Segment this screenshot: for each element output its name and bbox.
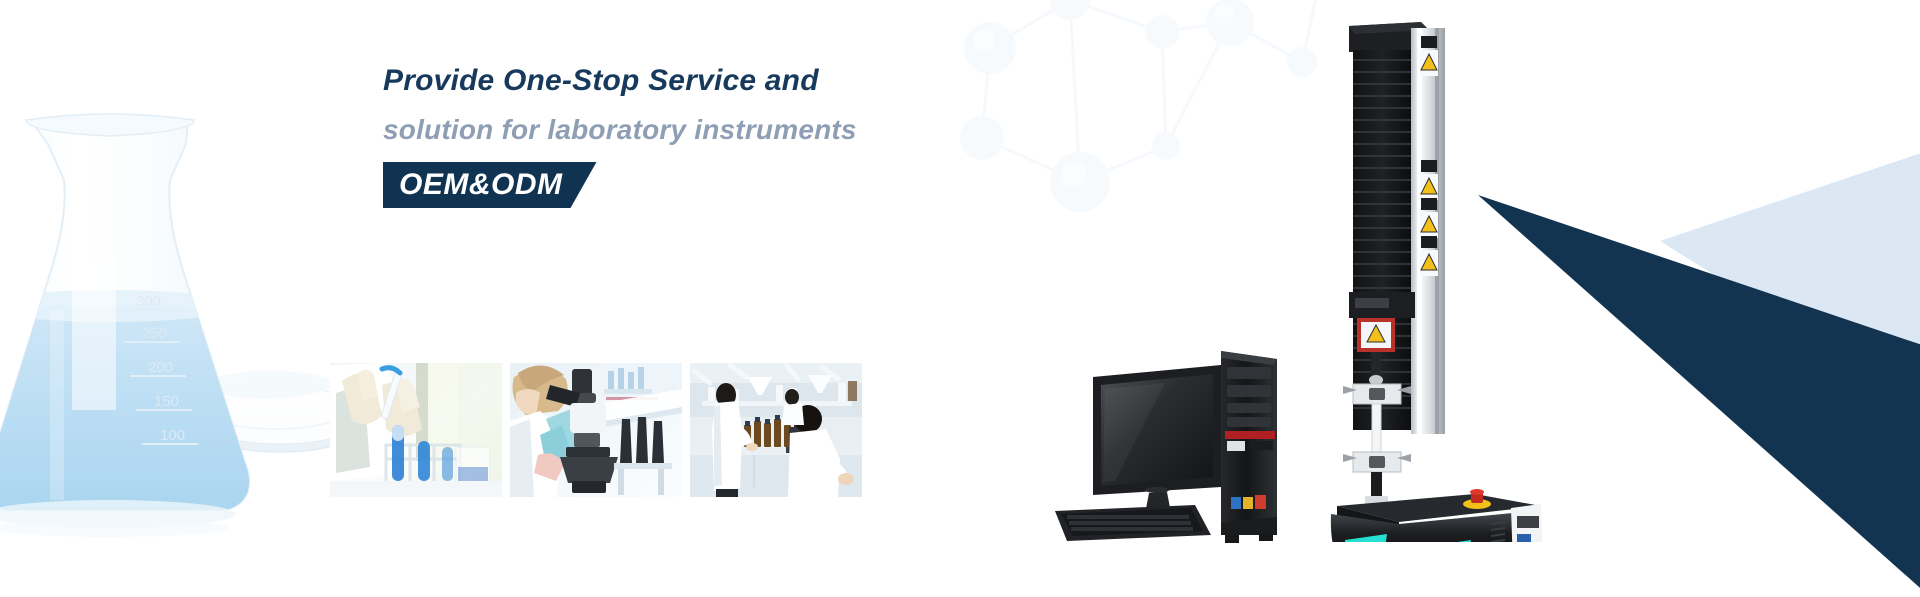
photo-pipetting xyxy=(330,363,502,497)
svg-text:100: 100 xyxy=(160,427,185,444)
desktop-computer xyxy=(1045,345,1280,550)
headline-line-1: Provide One-Stop Service and xyxy=(383,58,1083,104)
promo-banner: 300 250 200 150 100 Provide One-Stop Ser… xyxy=(0,0,1920,597)
photo-strip xyxy=(330,363,862,497)
erlenmeyer-flask: 300 250 200 150 100 xyxy=(0,110,290,540)
svg-text:250: 250 xyxy=(142,325,167,342)
svg-text:300: 300 xyxy=(136,293,161,310)
svg-text:150: 150 xyxy=(154,393,179,410)
headline-block: Provide One-Stop Service and solution fo… xyxy=(383,58,1083,208)
headline-line-2: solution for laboratory instruments xyxy=(383,104,1083,156)
universal-testing-machine xyxy=(1325,12,1560,542)
photo-laboratory xyxy=(690,363,862,497)
photo-microscope xyxy=(510,363,682,497)
badge-row: OEM&ODM xyxy=(383,162,1083,208)
svg-text:200: 200 xyxy=(148,359,173,376)
oem-odm-badge: OEM&ODM xyxy=(383,162,597,208)
